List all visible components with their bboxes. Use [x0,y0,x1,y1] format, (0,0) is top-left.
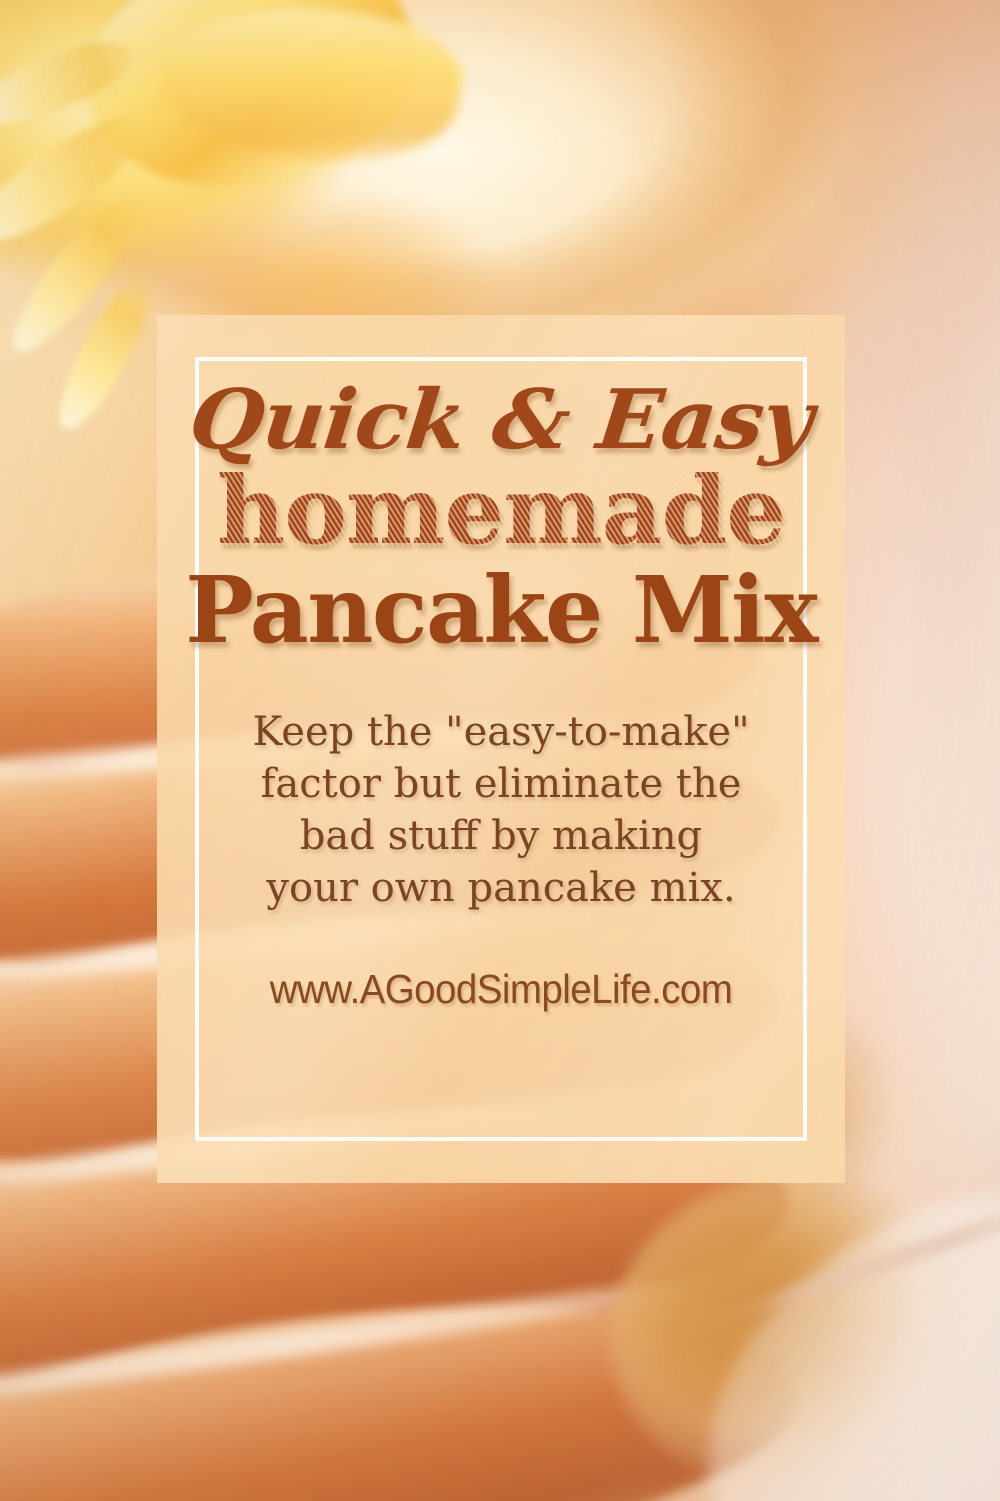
title-line-script: Quick & Easy [186,381,816,460]
pinterest-pin-graphic: Quick & Easy homemade Pancake Mix Keep t… [0,0,1000,1501]
overlay-content: Quick & Easy homemade Pancake Mix Keep t… [205,367,797,1131]
body-copy-line: bad stuff by making [252,810,749,862]
text-overlay-panel: Quick & Easy homemade Pancake Mix Keep t… [157,315,845,1183]
title-line-textured: homemade [217,464,785,558]
title-line-slab: Pancake Mix [185,564,817,656]
body-copy-line: Keep the "easy-to-make" [252,706,749,758]
body-copy: Keep the "easy-to-make" factor but elimi… [252,706,749,914]
body-copy-line: factor but eliminate the [252,758,749,810]
body-copy-line: your own pancake mix. [252,862,749,914]
website-url[interactable]: www.AGoodSimpleLife.com [270,966,733,1013]
